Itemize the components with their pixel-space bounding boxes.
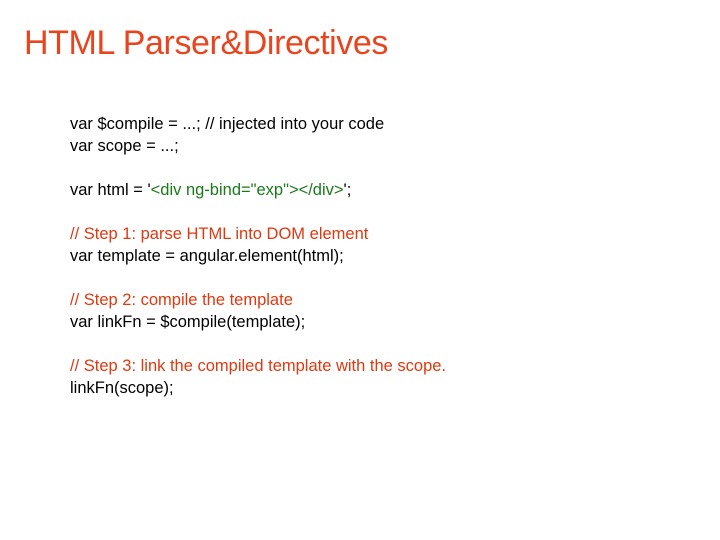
code-line: var template = angular.element(html); — [70, 245, 446, 267]
code-token-plain: var html = ' — [70, 181, 151, 199]
code-token-plain: var $compile = ...; // injected into you… — [70, 115, 384, 133]
code-token-plain: '; — [344, 181, 352, 199]
code-blank-line — [70, 201, 446, 223]
code-blank-line — [70, 333, 446, 355]
code-line: // Step 1: parse HTML into DOM element — [70, 223, 446, 245]
code-line: var linkFn = $compile(template); — [70, 311, 446, 333]
code-line: // Step 2: compile the template — [70, 289, 446, 311]
code-token-plain: var scope = ...; — [70, 137, 179, 155]
code-token-html_string: <div ng-bind="exp"></div> — [151, 181, 344, 199]
code-line: var html = '<div ng-bind="exp"></div>'; — [70, 179, 446, 201]
slide-canvas: HTML Parser&Directives var $compile = ..… — [0, 0, 720, 540]
code-line: var $compile = ...; // injected into you… — [70, 113, 446, 135]
code-line: // Step 3: link the compiled template wi… — [70, 355, 446, 377]
code-token-comment: // Step 1: parse HTML into DOM element — [70, 225, 368, 243]
code-token-comment: // Step 3: link the compiled template wi… — [70, 357, 446, 375]
code-blank-line — [70, 267, 446, 289]
code-token-plain: var template = angular.element(html); — [70, 247, 344, 265]
code-line: linkFn(scope); — [70, 377, 446, 399]
code-token-plain: var linkFn = $compile(template); — [70, 313, 305, 331]
code-listing: var $compile = ...; // injected into you… — [70, 113, 446, 399]
code-token-plain: linkFn(scope); — [70, 379, 174, 397]
code-blank-line — [70, 157, 446, 179]
page-title: HTML Parser&Directives — [24, 24, 388, 62]
code-token-comment: // Step 2: compile the template — [70, 291, 293, 309]
code-line: var scope = ...; — [70, 135, 446, 157]
